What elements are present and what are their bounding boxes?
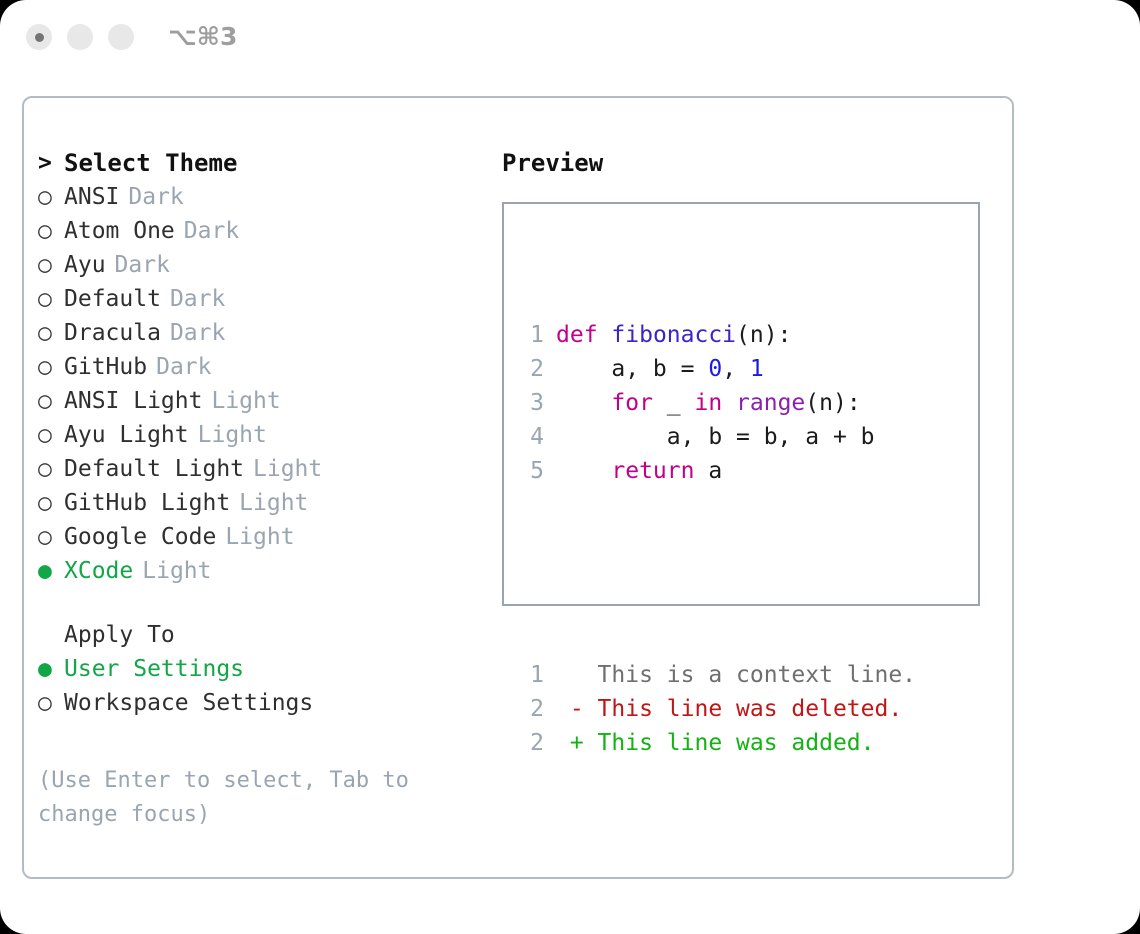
radio-unselected-icon: ○	[38, 686, 64, 720]
theme-variant-badge: Dark	[156, 350, 211, 384]
theme-variant-badge: Dark	[115, 248, 170, 282]
apply-to-item-label: User Settings	[64, 652, 244, 686]
theme-variant-badge: Dark	[128, 180, 183, 214]
theme-item-dracula[interactable]: ○DraculaDark	[38, 316, 498, 350]
theme-item-label: Dracula	[64, 316, 161, 350]
theme-item-ansi-light[interactable]: ○ANSI LightLight	[38, 384, 498, 418]
code-token: a	[694, 458, 722, 484]
code-token	[556, 458, 611, 484]
radio-unselected-icon: ○	[38, 452, 64, 486]
theme-variant-badge: Dark	[170, 316, 225, 350]
diff-line-ctx: 1 This is a context line.	[522, 658, 916, 692]
theme-item-label: GitHub	[64, 350, 147, 384]
theme-item-default[interactable]: ○DefaultDark	[38, 282, 498, 316]
theme-item-list: ○ANSIDark○Atom OneDark○AyuDark○DefaultDa…	[38, 180, 498, 588]
radio-unselected-icon: ○	[38, 214, 64, 248]
radio-unselected-icon: ○	[38, 316, 64, 350]
code-line: 1def fibonacci(n):	[522, 318, 916, 352]
diff-text: + This line was added.	[556, 730, 875, 756]
code-preview: 1def fibonacci(n):2 a, b = 0, 13 for _ i…	[522, 250, 916, 828]
help-text: (Use Enter to select, Tab to change focu…	[38, 764, 458, 832]
line-number: 1	[522, 658, 544, 692]
code-token	[722, 390, 736, 416]
theme-item-label: Ayu Light	[64, 418, 189, 452]
caret-icon: >	[38, 146, 64, 180]
theme-selector: > Select Theme ○ANSIDark○Atom OneDark○Ay…	[38, 146, 498, 720]
diff-text: - This line was deleted.	[556, 696, 902, 722]
select-theme-heading-row: > Select Theme	[38, 146, 498, 180]
code-token: a, b = b, a + b	[556, 424, 875, 450]
diff-line-add: 2 + This line was added.	[522, 726, 916, 760]
theme-item-label: ANSI	[64, 180, 119, 214]
theme-variant-badge: Light	[253, 452, 322, 486]
theme-variant-badge: Light	[239, 486, 308, 520]
traffic-lights	[26, 24, 134, 50]
code-token: for	[611, 390, 653, 416]
radio-unselected-icon: ○	[38, 486, 64, 520]
diff-text: This is a context line.	[556, 662, 916, 688]
line-number: 4	[522, 420, 544, 454]
code-line: 3 for _ in range(n):	[522, 386, 916, 420]
radio-unselected-icon: ○	[38, 520, 64, 554]
theme-variant-badge: Dark	[184, 214, 239, 248]
keyboard-shortcut-label: ⌥⌘3	[168, 22, 237, 51]
code-line: 4 a, b = b, a + b	[522, 420, 916, 454]
theme-item-label: Google Code	[64, 520, 216, 554]
line-number: 2	[522, 726, 544, 760]
code-token: ,	[722, 356, 750, 382]
page-title: Select Theme	[64, 146, 237, 180]
section-divider	[38, 588, 498, 618]
theme-item-label: ANSI Light	[64, 384, 202, 418]
preview-title: Preview	[502, 146, 1002, 180]
line-number: 2	[522, 352, 544, 386]
code-lines: 1def fibonacci(n):2 a, b = 0, 13 for _ i…	[522, 318, 916, 488]
preview-section: Preview 1def fibonacci(n):2 a, b = 0, 13…	[502, 146, 1002, 180]
radio-unselected-icon: ○	[38, 180, 64, 214]
theme-variant-badge: Light	[211, 384, 280, 418]
code-token: fibonacci	[611, 322, 736, 348]
theme-item-label: XCode	[64, 554, 133, 588]
theme-variant-badge: Light	[142, 554, 211, 588]
theme-item-ansi[interactable]: ○ANSIDark	[38, 180, 498, 214]
theme-item-label: GitHub Light	[64, 486, 230, 520]
theme-item-label: Default Light	[64, 452, 244, 486]
theme-variant-badge: Light	[198, 418, 267, 452]
title-bar: ⌥⌘3	[0, 0, 1140, 76]
apply-to-list: ●User Settings○Workspace Settings	[38, 652, 498, 720]
code-token: _	[653, 390, 695, 416]
theme-item-default-light[interactable]: ○Default LightLight	[38, 452, 498, 486]
theme-item-label: Atom One	[64, 214, 175, 248]
radio-selected-icon: ●	[38, 554, 64, 588]
line-number: 3	[522, 386, 544, 420]
code-diff-spacer	[522, 556, 916, 590]
apply-to-heading: Apply To	[64, 618, 175, 652]
apply-to-item-user-settings[interactable]: ●User Settings	[38, 652, 498, 686]
traffic-dot-icon-2[interactable]	[67, 24, 93, 50]
code-token	[598, 322, 612, 348]
main-panel: > Select Theme ○ANSIDark○Atom OneDark○Ay…	[22, 96, 1014, 879]
line-number: 2	[522, 692, 544, 726]
preview-box: 1def fibonacci(n):2 a, b = 0, 13 for _ i…	[502, 202, 980, 606]
radio-unselected-icon: ○	[38, 282, 64, 316]
code-token: a, b =	[556, 356, 708, 382]
code-token	[556, 390, 611, 416]
traffic-dot-icon-3[interactable]	[108, 24, 134, 50]
code-token: return	[611, 458, 694, 484]
apply-to-heading-row: ○ Apply To	[38, 618, 498, 652]
theme-item-github-light[interactable]: ○GitHub LightLight	[38, 486, 498, 520]
theme-item-ayu-light[interactable]: ○Ayu LightLight	[38, 418, 498, 452]
diff-lines: 1 This is a context line.2 - This line w…	[522, 658, 916, 760]
apply-to-item-label: Workspace Settings	[64, 686, 313, 720]
theme-item-github[interactable]: ○GitHubDark	[38, 350, 498, 384]
blank-marker-icon: ○	[38, 618, 64, 652]
panel-columns: > Select Theme ○ANSIDark○Atom OneDark○Ay…	[24, 98, 1012, 877]
radio-unselected-icon: ○	[38, 350, 64, 384]
code-token: range	[736, 390, 805, 416]
code-line: 2 a, b = 0, 1	[522, 352, 916, 386]
theme-item-label: Default	[64, 282, 161, 316]
diff-line-del: 2 - This line was deleted.	[522, 692, 916, 726]
apply-to-item-workspace-settings[interactable]: ○Workspace Settings	[38, 686, 498, 720]
theme-variant-badge: Dark	[170, 282, 225, 316]
app-window: ⌥⌘3 > Select Theme ○ANSIDark○Atom OneDar…	[0, 0, 1140, 934]
code-token: 1	[750, 356, 764, 382]
code-line: 5 return a	[522, 454, 916, 488]
line-number: 5	[522, 454, 544, 488]
code-token: in	[694, 390, 722, 416]
theme-item-label: Ayu	[64, 248, 106, 282]
theme-item-google-code[interactable]: ○Google CodeLight	[38, 520, 498, 554]
radio-unselected-icon: ○	[38, 384, 64, 418]
code-token: 0	[708, 356, 722, 382]
theme-item-ayu[interactable]: ○AyuDark	[38, 248, 498, 282]
code-token: def	[556, 322, 598, 348]
line-number: 1	[522, 318, 544, 352]
radio-selected-icon: ●	[38, 652, 64, 686]
radio-unselected-icon: ○	[38, 418, 64, 452]
code-token: (n):	[736, 322, 791, 348]
theme-variant-badge: Light	[225, 520, 294, 554]
theme-item-xcode[interactable]: ●XCodeLight	[38, 554, 498, 588]
radio-unselected-icon: ○	[38, 248, 64, 282]
theme-item-atom-one[interactable]: ○Atom OneDark	[38, 214, 498, 248]
code-token: (n):	[805, 390, 860, 416]
traffic-dot-active-icon[interactable]	[26, 24, 52, 50]
